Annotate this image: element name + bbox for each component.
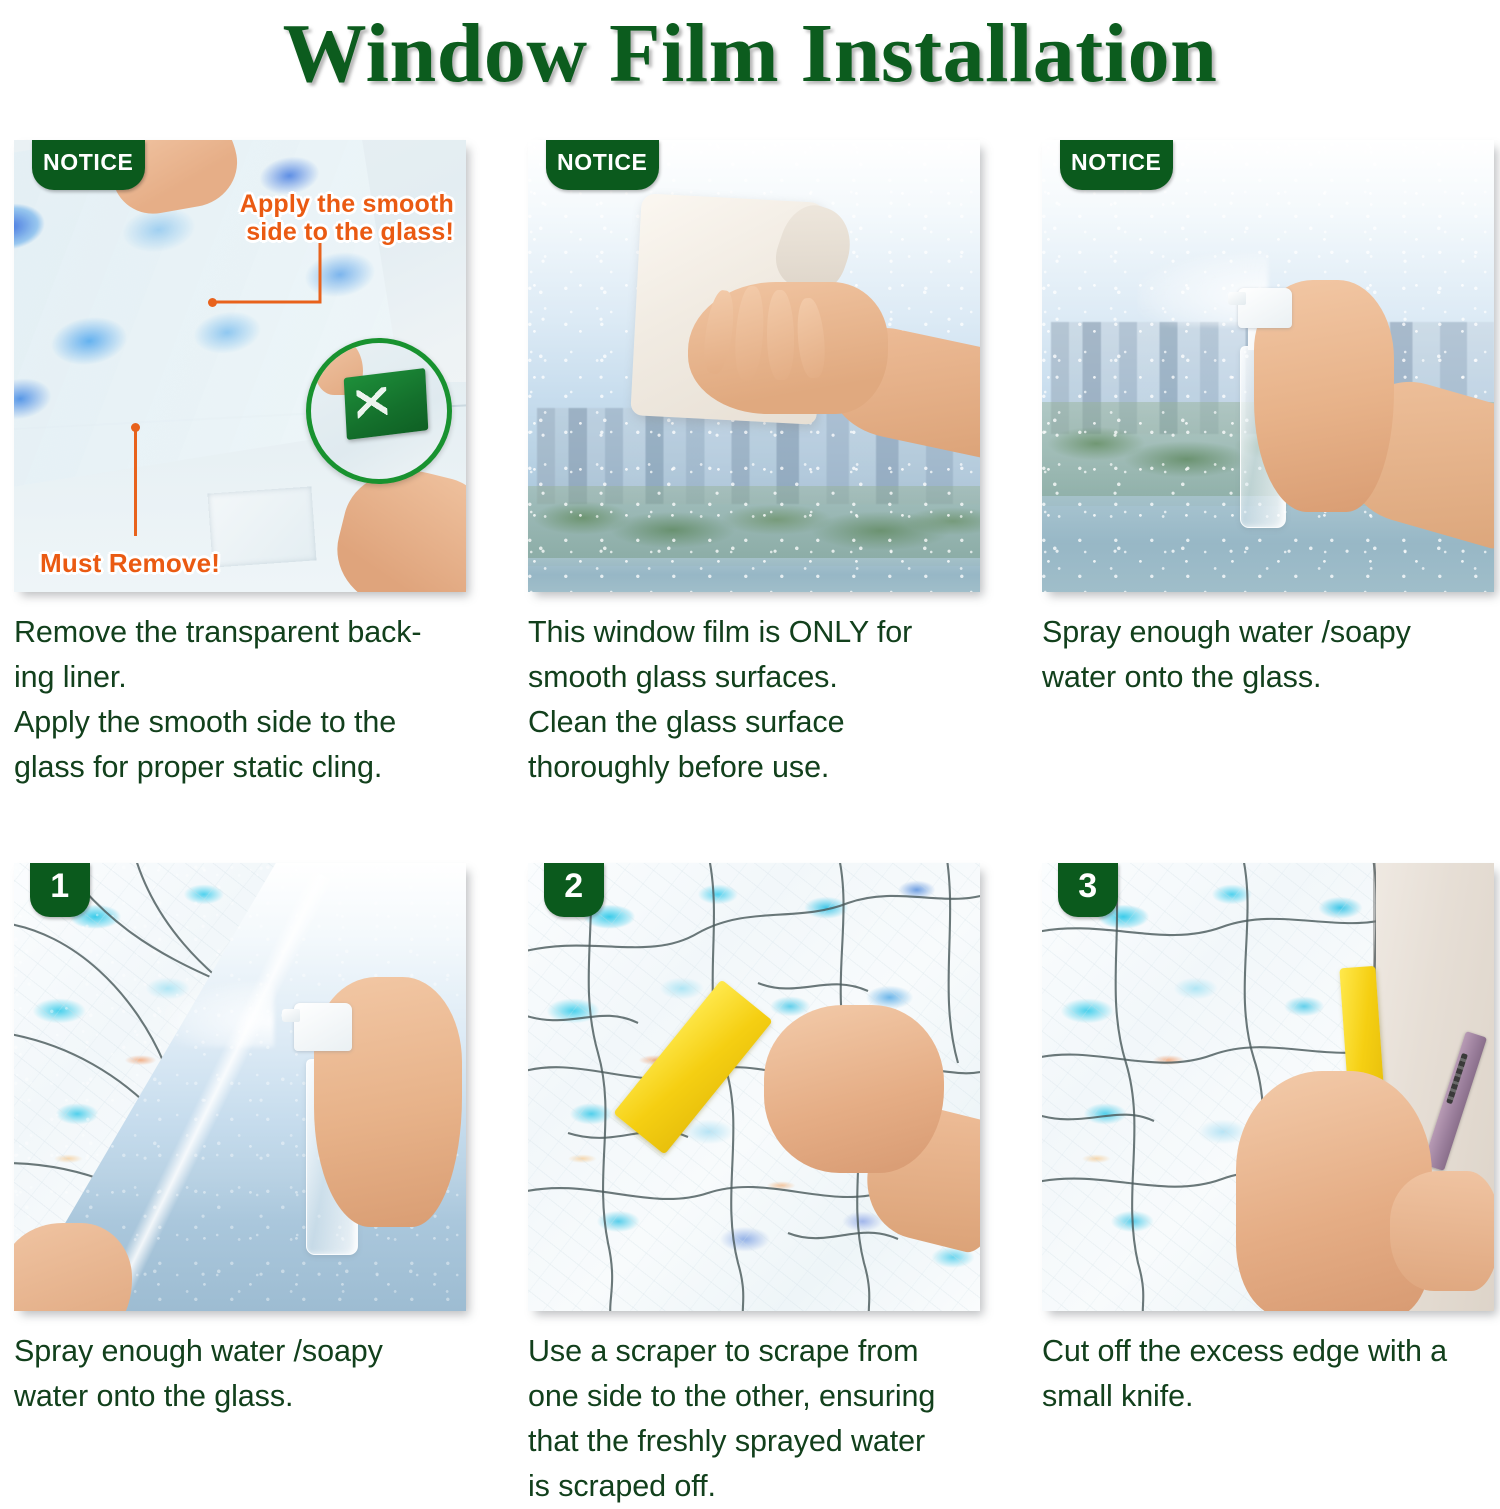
- panel-image-5: 2: [528, 863, 980, 1311]
- caption-5-line-4: is scraped off.: [528, 1464, 968, 1509]
- liner-tab: [208, 486, 317, 567]
- caption-4-line-2: water onto the glass.: [14, 1374, 454, 1419]
- badge-step-3: 3: [1058, 863, 1118, 917]
- leader-dot-remove: [131, 423, 140, 432]
- spray-mist: [164, 981, 274, 1047]
- caption-3: Spray enough water /soapy water onto the…: [1042, 610, 1482, 700]
- caption-1: Remove the transparent back- ing liner. …: [14, 610, 454, 791]
- panel-image-3: NOTICE: [1042, 140, 1494, 592]
- caption-2-line-1: This window film is ONLY for: [528, 610, 968, 655]
- caption-5-line-3: that the freshly sprayed water: [528, 1419, 968, 1464]
- magnifier-inset: [306, 338, 452, 484]
- badge-step-2: 2: [544, 863, 604, 917]
- caption-3-line-2: water onto the glass.: [1042, 655, 1482, 700]
- panel-image-1: Apply the smooth side to the glass! Must…: [14, 140, 466, 592]
- leader-line-apply: [204, 240, 324, 330]
- annotation-apply-line2: side to the glass!: [246, 218, 454, 246]
- caption-4: Spray enough water /soapy water onto the…: [14, 1329, 454, 1419]
- panel-image-6: 3: [1042, 863, 1494, 1311]
- panel-cell-6: 3 Cut off the excess edge with a small k…: [1042, 863, 1494, 1509]
- panel-image-4: 1: [14, 863, 466, 1311]
- spray-nozzle: [282, 1009, 300, 1022]
- panel-cell-2: NOTICE This window film is ONLY for smoo…: [528, 140, 980, 791]
- caption-1-line-1: Remove the transparent back-: [14, 610, 454, 655]
- hand-holding-scraper: [764, 1005, 944, 1173]
- spray-bottle-head: [1238, 288, 1292, 328]
- badge-notice-1: NOTICE: [32, 140, 145, 190]
- title-bar: Window Film Installation: [0, 0, 1500, 108]
- caption-5: Use a scraper to scrape from one side to…: [528, 1329, 968, 1509]
- caption-1-line-3: Apply the smooth side to the: [14, 700, 454, 745]
- spray-bottle-head: [294, 1003, 352, 1051]
- panel-image-2: NOTICE: [528, 140, 980, 592]
- caption-2-line-3: Clean the glass surface: [528, 700, 968, 745]
- caption-2-line-2: smooth glass surfaces.: [528, 655, 968, 700]
- caption-3-line-1: Spray enough water /soapy: [1042, 610, 1482, 655]
- instruction-row-bottom: 1 Spray enough water /soapy water onto t…: [0, 863, 1500, 1509]
- page-title: Window Film Installation: [283, 12, 1218, 96]
- spray-nozzle: [1228, 292, 1246, 305]
- caption-2-line-4: thoroughly before use.: [528, 745, 968, 790]
- annotation-must-remove: Must Remove!: [40, 549, 220, 578]
- hand-holding-film: [14, 1223, 132, 1311]
- leader-line-remove: [134, 428, 137, 536]
- badge-notice-2: NOTICE: [546, 140, 659, 190]
- caption-6-line-1: Cut off the excess edge with a: [1042, 1329, 1482, 1374]
- badge-step-1: 1: [30, 863, 90, 917]
- caption-2: This window film is ONLY for smooth glas…: [528, 610, 968, 791]
- caption-6: Cut off the excess edge with a small kni…: [1042, 1329, 1482, 1419]
- annotation-apply-smooth-side: Apply the smooth side to the glass!: [240, 190, 454, 246]
- instruction-grid: Apply the smooth side to the glass! Must…: [0, 140, 1500, 1509]
- instruction-row-top: Apply the smooth side to the glass! Must…: [0, 140, 1500, 791]
- panel-cell-4: 1 Spray enough water /soapy water onto t…: [14, 863, 466, 1509]
- caption-5-line-1: Use a scraper to scrape from: [528, 1329, 968, 1374]
- leader-dot-apply: [208, 298, 217, 307]
- badge-notice-3: NOTICE: [1060, 140, 1173, 190]
- caption-1-line-4: glass for proper static cling.: [14, 745, 454, 790]
- caption-5-line-2: one side to the other, ensuring: [528, 1374, 968, 1419]
- hand-holding-knife: [1390, 1171, 1494, 1291]
- inset-green-tab: [344, 368, 429, 440]
- panel-cell-1: Apply the smooth side to the glass! Must…: [14, 140, 466, 791]
- panel-cell-3: NOTICE Spray enough water /soapy water o…: [1042, 140, 1494, 791]
- annotation-apply-line1: Apply the smooth: [240, 190, 454, 218]
- panel-cell-5: 2 Use a scraper to scrape from one side …: [528, 863, 980, 1509]
- caption-1-line-2: ing liner.: [14, 655, 454, 700]
- caption-4-line-1: Spray enough water /soapy: [14, 1329, 454, 1374]
- caption-6-line-2: small knife.: [1042, 1374, 1482, 1419]
